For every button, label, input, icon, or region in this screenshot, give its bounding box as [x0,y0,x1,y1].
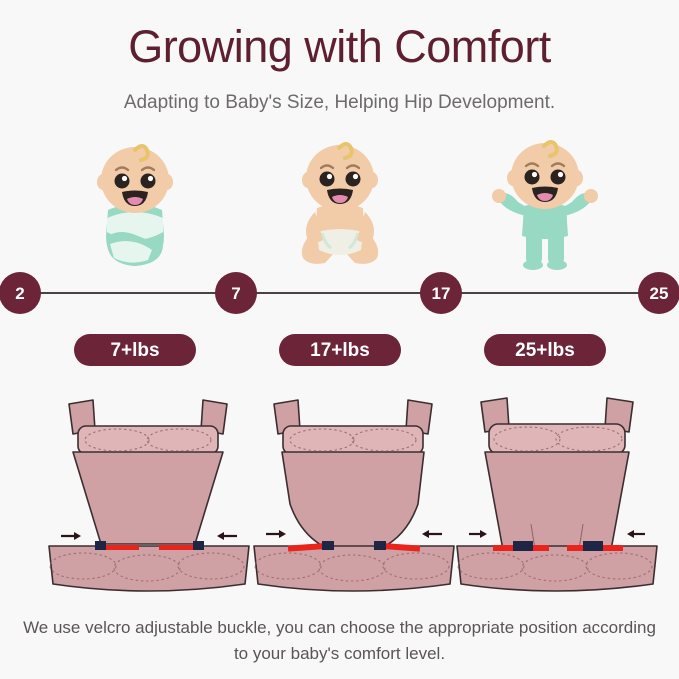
infographic-root: Growing with Comfort Adapting to Baby's … [0,0,679,679]
baby-illustration-row [0,132,679,272]
swaddled-baby-icon [60,132,210,272]
timeline-node-0: 2 [0,272,41,314]
growth-timeline: 2 7 17 25 [0,272,679,314]
weight-badge-2: 25+lbs [484,334,606,366]
weight-badge-row: 7+lbs 17+lbs 25+lbs [0,334,679,368]
weight-badge-0: 7+lbs [74,334,196,366]
sitting-baby-icon [265,132,415,272]
baby-carrier-medium-icon [252,384,457,599]
baby-carrier-wide-icon [455,384,660,599]
carrier-diagram-row [0,384,679,599]
timeline-node-3: 25 [638,272,679,314]
timeline-node-1: 7 [215,272,257,314]
weight-badge-1: 17+lbs [279,334,401,366]
page-title: Growing with Comfort [0,24,679,69]
footer-caption: We use velcro adjustable buckle, you can… [0,615,679,668]
standing-baby-icon [470,132,620,272]
page-subtitle: Adapting to Baby's Size, Helping Hip Dev… [0,93,679,112]
baby-carrier-narrow-icon [47,384,252,599]
timeline-track [20,292,659,294]
timeline-node-2: 17 [420,272,462,314]
